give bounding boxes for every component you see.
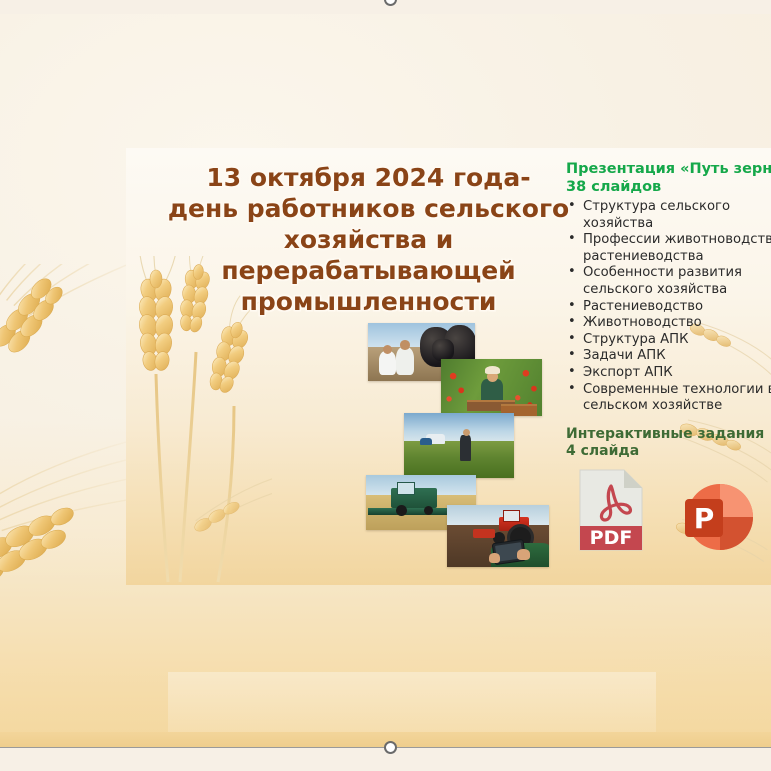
list-item: Особенности развития сельского хозяйства [566,265,771,298]
page-title: 13 октября 2024 года- день работников се… [146,162,591,317]
combine-wheel [424,506,433,515]
presentation-heading-line2: 38 слайдов [566,178,771,196]
operator-hand [489,553,500,563]
list-item: Задачи АПК [566,348,771,365]
photo-ground [404,441,514,478]
content-panel[interactable]: 13 октября 2024 года- день работников се… [126,148,771,585]
cow-shape [432,339,454,361]
operator-hand [517,549,530,560]
pdf-file-icon[interactable]: PDF [578,468,644,552]
photo-sky [447,505,549,525]
list-item: Структура АПК [566,332,771,349]
combine-cab [397,482,415,495]
tractor-cab [503,510,520,522]
tractor-implement [473,529,495,538]
photo-tomato-greenhouse-worker [441,359,542,416]
editor-canvas[interactable]: 13 октября 2024 года- день работников се… [0,0,771,771]
list-item: Профессии животноводства и растениеводст… [566,232,771,265]
list-item: Структура сельского хозяйства [566,199,771,232]
photo-agronomist-in-field [404,413,514,478]
list-item: Экспорт АПК [566,365,771,382]
presentation-heading: Презентация «Путь зерна» 38 слайдов [566,160,771,196]
agronomist-figure [460,435,471,461]
combine-wheel [396,505,407,516]
presentation-heading-line1: Презентация «Путь зерна» [566,161,771,177]
veterinarian-figure [396,347,414,375]
veterinarian-figure [379,351,396,375]
combine-header-bar [368,508,452,515]
interactive-tasks-heading: Интерактивные задания 4 слайда [566,426,771,461]
list-item: Животноводство [566,315,771,332]
right-text-column: Презентация «Путь зерна» 38 слайдов Стру… [566,160,771,461]
field-vehicle [420,438,432,445]
powerpoint-file-icon[interactable]: P [679,478,757,556]
topic-list: Структура сельского хозяйства Профессии … [566,199,771,415]
list-item: Современные технологии в сельском хозяйс… [566,382,771,415]
photo-red-tractor-and-tablet [447,505,549,567]
photo-collage [366,323,556,573]
veterinarian-head [400,340,410,350]
greenhouse-worker-hat [485,366,500,374]
pdf-label: PDF [590,527,633,549]
bottom-resize-handle[interactable] [384,741,397,754]
powerpoint-label: P [694,502,715,535]
top-resize-handle[interactable] [384,0,397,6]
list-item: Растениеводство [566,299,771,316]
file-icons-row: PDF P [578,466,771,566]
veterinarian-head [383,345,392,354]
agronomist-head [463,429,470,436]
